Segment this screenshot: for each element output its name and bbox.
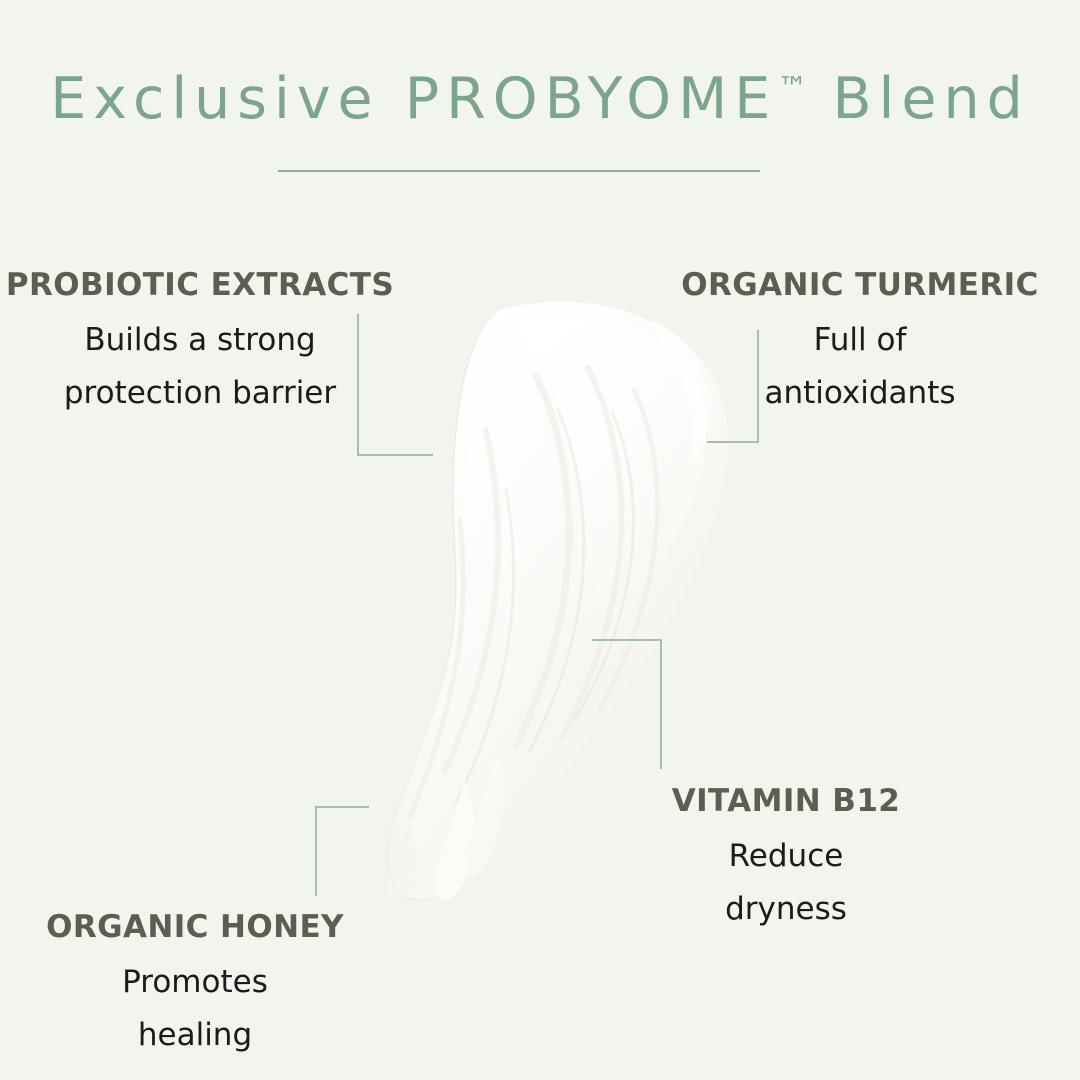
callout-body-line1: Reduce [636, 830, 936, 883]
connector-honey-horizontal [315, 806, 369, 808]
title-divider [278, 170, 760, 172]
infographic-canvas: Exclusive PROBYOME™ Blend [0, 0, 1080, 1080]
callout-vitamin-b12: VITAMIN B12 Reduce dryness [636, 784, 936, 937]
callout-body: Full of antioxidants [660, 314, 1060, 421]
callout-body: Promotes healing [0, 956, 390, 1063]
callout-body-line2: protection barrier [0, 367, 400, 420]
callout-body-line1: Full of [660, 314, 1060, 367]
callout-probiotic-extracts: PROBIOTIC EXTRACTS Builds a strong prote… [0, 268, 400, 421]
title-suffix: Blend [807, 66, 1029, 132]
callout-heading: ORGANIC TURMERIC [660, 268, 1060, 302]
callout-organic-honey: ORGANIC HONEY Promotes healing [0, 910, 390, 1063]
trademark-icon: ™ [777, 71, 807, 106]
connector-vitamin-vertical [660, 639, 662, 769]
callout-body-line2: healing [0, 1009, 390, 1062]
callout-body-line1: Builds a strong [0, 314, 400, 367]
callout-body: Builds a strong protection barrier [0, 314, 400, 421]
callout-body-line1: Promotes [0, 956, 390, 1009]
callout-heading: PROBIOTIC EXTRACTS [0, 268, 400, 302]
callout-organic-turmeric: ORGANIC TURMERIC Full of antioxidants [660, 268, 1060, 421]
callout-body: Reduce dryness [636, 830, 936, 937]
connector-honey-vertical [315, 806, 317, 896]
connector-vitamin-horizontal [592, 639, 662, 641]
callout-heading: VITAMIN B12 [636, 784, 936, 818]
callout-body-line2: antioxidants [660, 367, 1060, 420]
callout-body-line2: dryness [636, 883, 936, 936]
connector-turmeric-horizontal [707, 441, 759, 443]
callout-heading: ORGANIC HONEY [0, 910, 390, 944]
title-prefix: Exclusive PROBYOME [50, 66, 777, 132]
page-title: Exclusive PROBYOME™ Blend [0, 66, 1080, 132]
connector-probiotic-horizontal [357, 454, 433, 456]
